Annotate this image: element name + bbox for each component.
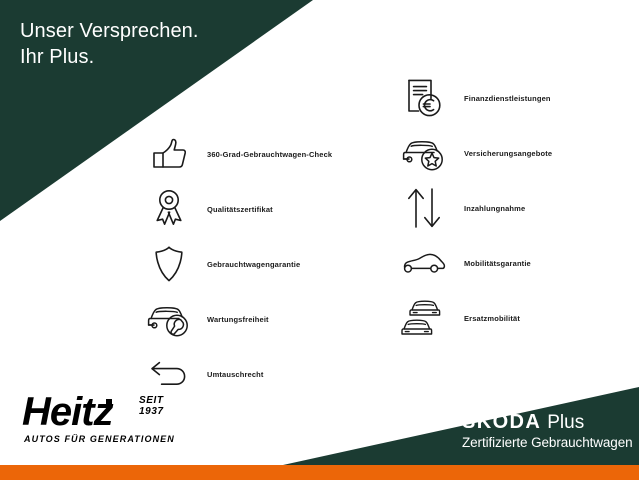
feature-label: Ersatzmobilität <box>464 314 520 323</box>
award-rosette-icon <box>145 186 193 232</box>
skoda-plus-logo: ŠKODA Plus Zertifizierte Gebrauchtwagen <box>462 412 633 450</box>
footer-orange-bar <box>0 465 639 480</box>
two-cars-icon <box>400 295 448 341</box>
feature-item: Ersatzmobilität <box>400 292 552 344</box>
heitz-logo: Heitz SEIT 1937 AUTOS FÜR GENERATIONEN <box>22 390 182 452</box>
feature-item: Inzahlungnahme <box>400 182 552 234</box>
feature-item: 360-Grad-Gebrauchtwagen-Check <box>145 128 332 180</box>
feature-label: Mobilitätsgarantie <box>464 259 531 268</box>
feature-label: Inzahlungnahme <box>464 204 525 213</box>
promo-banner: Unser Versprechen. Ihr Plus. 360-Grad-Ge… <box>0 0 639 480</box>
feature-item: Versicherungsangebote <box>400 127 552 179</box>
skoda-subtitle: Zertifizierte Gebrauchtwagen <box>462 435 633 450</box>
headline-line-1: Unser Versprechen. <box>20 20 199 42</box>
feature-label: Gebrauchtwagengarantie <box>207 260 300 269</box>
document-euro-icon <box>400 75 448 121</box>
page-title: Unser Versprechen. Ihr Plus. <box>20 18 199 70</box>
feature-column-left: 360-Grad-Gebrauchtwagen-Check Qualitätsz… <box>145 128 332 403</box>
feature-item: Qualitätszertifikat <box>145 183 332 235</box>
feature-item: Gebrauchtwagengarantie <box>145 238 332 290</box>
heitz-claim: AUTOS FÜR GENERATIONEN <box>24 434 175 444</box>
feature-item: Wartungsfreiheit <box>145 293 332 345</box>
feature-item: Finanzdienstleistungen <box>400 72 552 124</box>
skoda-wordmark: ŠKODA <box>462 412 541 432</box>
car-wrench-icon <box>145 296 193 342</box>
feature-label: Umtauschrecht <box>207 370 264 379</box>
feature-label: 360-Grad-Gebrauchtwagen-Check <box>207 150 332 159</box>
feature-column-right: Finanzdienstleistungen Versicherungsange… <box>400 72 552 347</box>
heitz-wordmark: Heitz <box>22 392 113 432</box>
shield-icon <box>145 241 193 287</box>
feature-label: Wartungsfreiheit <box>207 315 269 324</box>
feature-label: Versicherungsangebote <box>464 149 552 158</box>
car-silhouette-icon <box>400 240 448 286</box>
thumbs-up-icon <box>145 131 193 177</box>
up-down-arrows-icon <box>400 185 448 231</box>
headline-line-2: Ihr Plus. <box>20 44 199 70</box>
skoda-plus-label: Plus <box>547 413 584 433</box>
feature-item: Mobilitätsgarantie <box>400 237 552 289</box>
feature-label: Finanzdienstleistungen <box>464 94 551 103</box>
heitz-logo-dot <box>106 399 112 405</box>
skoda-logo-line: ŠKODA Plus <box>462 412 633 434</box>
feature-label: Qualitätszertifikat <box>207 205 273 214</box>
car-star-icon <box>400 130 448 176</box>
heitz-since-label: SEIT 1937 <box>139 395 182 417</box>
